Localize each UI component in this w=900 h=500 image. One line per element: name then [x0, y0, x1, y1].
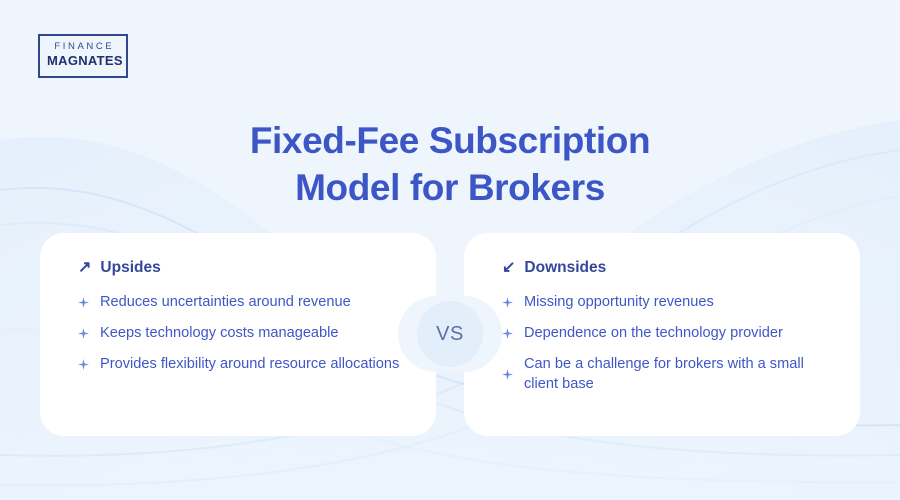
downsides-heading-label: Downsides: [524, 260, 606, 276]
upsides-list: Reduces uncertainties around revenue Kee…: [78, 292, 414, 374]
sparkle-icon: [78, 297, 89, 308]
logo-line-magnates: MAGNATES: [47, 54, 119, 69]
page-title-line-1: Fixed-Fee Subscription: [0, 117, 900, 164]
downsides-card: ↙ Downsides Missing opportunity revenues…: [464, 233, 860, 436]
versus-badge: VS: [417, 301, 483, 367]
versus-label: VS: [436, 323, 464, 346]
list-item: Reduces uncertainties around revenue: [78, 292, 414, 312]
page-title-line-2: Model for Brokers: [0, 164, 900, 211]
brand-logo: FINANCE MAGNATES: [38, 34, 128, 78]
list-item-label: Can be a challenge for brokers with a sm…: [524, 354, 834, 394]
list-item: Missing opportunity revenues: [502, 292, 838, 312]
arrow-down-left-icon: ↙: [502, 260, 515, 276]
list-item: Dependence on the technology provider: [502, 323, 838, 343]
upsides-heading: ↗ Upsides: [78, 260, 414, 276]
upsides-heading-label: Upsides: [100, 260, 160, 276]
sparkle-icon: [502, 369, 513, 380]
arrow-up-right-icon: ↗: [78, 260, 91, 276]
list-item: Keeps technology costs manageable: [78, 323, 414, 343]
page-title: Fixed-Fee Subscription Model for Brokers: [0, 117, 900, 211]
list-item-label: Reduces uncertainties around revenue: [100, 292, 351, 312]
list-item: Provides flexibility around resource all…: [78, 354, 414, 374]
sparkle-icon: [502, 297, 513, 308]
downsides-list: Missing opportunity revenues Dependence …: [502, 292, 838, 394]
sparkle-icon: [78, 359, 89, 370]
list-item-label: Dependence on the technology provider: [524, 323, 783, 343]
downsides-heading: ↙ Downsides: [502, 260, 838, 276]
list-item-label: Missing opportunity revenues: [524, 292, 714, 312]
infographic-canvas: FINANCE MAGNATES Fixed-Fee Subscription …: [0, 0, 900, 500]
sparkle-icon: [78, 328, 89, 339]
list-item-label: Keeps technology costs manageable: [100, 323, 339, 343]
list-item-label: Provides flexibility around resource all…: [100, 354, 399, 374]
sparkle-icon: [502, 328, 513, 339]
list-item: Can be a challenge for brokers with a sm…: [502, 354, 838, 394]
logo-line-finance: FINANCE: [47, 42, 119, 53]
upsides-card: ↗ Upsides Reduces uncertainties around r…: [40, 233, 436, 436]
